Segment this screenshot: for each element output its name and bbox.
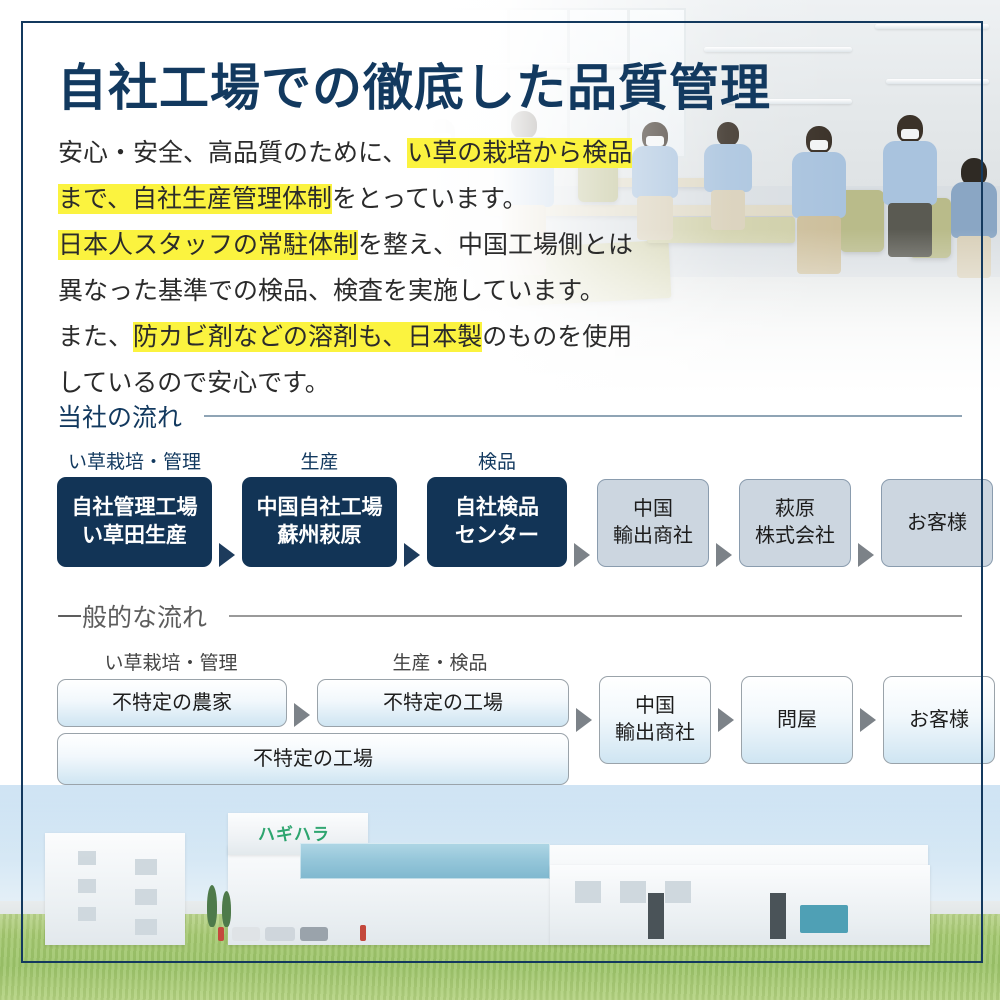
general-flow-label: 生産・検品 xyxy=(315,648,565,675)
flow-arrow-icon xyxy=(569,708,599,732)
our-flow-step: 生産中国自社工場蘇州萩原 xyxy=(242,447,397,567)
plain-text: を整え、中国工場側とは xyxy=(358,231,633,259)
general-flow-label: い草栽培・管理 xyxy=(57,648,285,675)
our-flow-step-box: 中国自社工場蘇州萩原 xyxy=(242,477,397,567)
our-flow-heading: 当社の流れ xyxy=(57,398,962,434)
our-flow-step-box: お客様 xyxy=(881,479,993,567)
intro-line: 日本人スタッフの常駐体制を整え、中国工場側とは xyxy=(58,222,658,268)
flow-arrow-icon xyxy=(567,543,597,567)
our-flow-step-box: 自社管理工場い草田生産 xyxy=(57,477,212,567)
our-flow-heading-label: 当社の流れ xyxy=(57,398,182,434)
our-flow-step: –お客様 xyxy=(881,449,993,567)
our-flow-step-label: 生産 xyxy=(300,447,338,471)
highlighted-text: い草の栽培から検品 xyxy=(407,138,632,168)
intro-line: また、防カビ剤などの溶剤も、日本製のものを使用 xyxy=(58,314,658,360)
flow-arrow-icon xyxy=(711,708,741,732)
our-flow-step: –中国輸出商社 xyxy=(597,449,709,567)
highlighted-text: 防カビ剤などの溶剤も、 xyxy=(133,322,407,352)
general-flow-tail: 中国輸出商社問屋お客様 xyxy=(569,676,995,764)
our-flow-step-label: 検品 xyxy=(478,447,516,471)
intro-line: 異なった基準での検品、検査を実施しています。 xyxy=(58,268,658,314)
our-flow-step-label: い草栽培・管理 xyxy=(68,447,201,471)
highlighted-text: まで、 xyxy=(58,184,132,214)
plain-text: のものを使用 xyxy=(482,323,632,351)
general-flow-heading: 一般的な流れ xyxy=(57,598,962,634)
our-flow-step: 検品自社検品センター xyxy=(427,447,567,567)
our-flow-step-box: 中国輸出商社 xyxy=(597,479,709,567)
highlighted-text: 日本製 xyxy=(407,322,482,352)
our-flow-step: –萩原株式会社 xyxy=(739,449,851,567)
highlighted-text: 自社生産管理体制 xyxy=(132,184,332,214)
our-flow-heading-rule xyxy=(204,415,962,417)
flow-arrow-icon xyxy=(851,543,881,567)
plain-text: しているので安心です。 xyxy=(58,369,330,397)
our-flow-step: い草栽培・管理自社管理工場い草田生産 xyxy=(57,447,212,567)
general-flow-heading-label: 一般的な流れ xyxy=(57,598,207,634)
intro-paragraph: 安心・安全、高品質のために、い草の栽培から検品まで、自社生産管理体制をとっていま… xyxy=(58,130,658,406)
general-flow-left-group: い草栽培・管理生産・検品不特定の農家不特定の工場不特定の工場 xyxy=(57,648,569,785)
general-flow-tail-box: お客様 xyxy=(883,676,995,764)
infographic-page: ハギハラ 自社工場での徹底した品質管理 安心・安全、高品質のために、い草の栽培か… xyxy=(0,0,1000,1000)
general-flow-heading-rule xyxy=(229,615,962,617)
plain-text: また、 xyxy=(58,323,133,351)
highlighted-text: 日本人スタッフの常駐体制 xyxy=(58,230,358,260)
page-title: 自社工場での徹底した品質管理 xyxy=(57,48,771,120)
flow-arrow-icon xyxy=(397,543,427,567)
general-flow-tail-box: 中国輸出商社 xyxy=(599,676,711,764)
plain-text: 安心・安全、高品質のために、 xyxy=(58,139,407,167)
general-flow-labels: い草栽培・管理生産・検品 xyxy=(57,648,569,675)
general-flow-wide-box: 不特定の工場 xyxy=(57,733,569,785)
flow-arrow-icon xyxy=(709,543,739,567)
general-flow-box: 不特定の農家 xyxy=(57,679,287,727)
our-flow-step-box: 萩原株式会社 xyxy=(739,479,851,567)
general-flow-tail-box: 問屋 xyxy=(741,676,853,764)
our-flow-diagram: い草栽培・管理自社管理工場い草田生産生産中国自社工場蘇州萩原検品自社検品センター… xyxy=(57,447,993,567)
intro-line: 安心・安全、高品質のために、い草の栽培から検品 xyxy=(58,130,658,176)
general-flow-top-row: 不特定の農家不特定の工場 xyxy=(57,679,569,727)
general-flow-box: 不特定の工場 xyxy=(317,679,569,727)
our-flow-step-box: 自社検品センター xyxy=(427,477,567,567)
flow-arrow-icon xyxy=(287,703,317,727)
flow-arrow-icon xyxy=(212,543,242,567)
plain-text: をとっています。 xyxy=(332,185,528,213)
general-flow-diagram: い草栽培・管理生産・検品不特定の農家不特定の工場不特定の工場中国輸出商社問屋お客… xyxy=(57,648,995,785)
flow-arrow-icon xyxy=(853,708,883,732)
plain-text: 異なった基準での検品、検査を実施しています。 xyxy=(58,277,605,305)
intro-line: まで、自社生産管理体制をとっています。 xyxy=(58,176,658,222)
